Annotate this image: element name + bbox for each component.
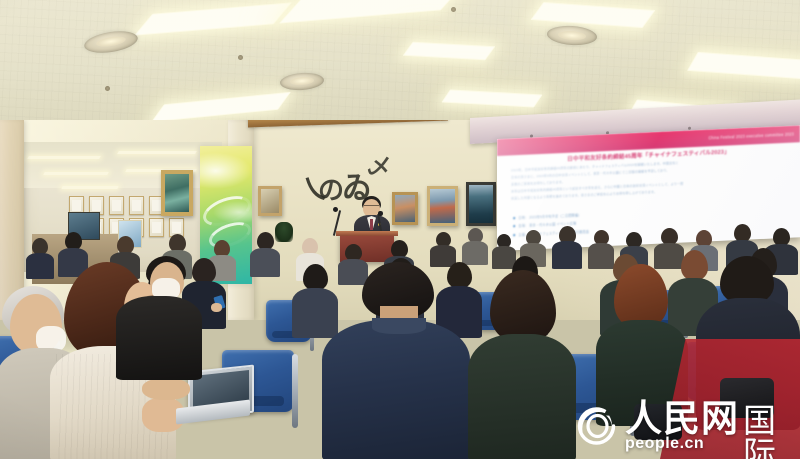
speaker-tie [370,219,373,230]
slide-header-text: China Festival 2023 executive committee … [708,131,800,140]
framed-painting-blue [427,186,458,226]
calligraphy-artwork: 乄 [366,154,392,179]
ceiling-light-panel [27,156,101,159]
attendee-torso [322,320,470,459]
attendee-hair [490,270,556,342]
framed-painting-green-figure [161,170,193,216]
attendee-front-dark-green-top [468,270,576,459]
ceiling-light-panel [117,151,197,154]
conference-photo: ㇏ の ゐ 乄 [0,0,800,459]
chair-frame-rail [292,354,298,428]
attendee-hands-on-keyboard [142,378,190,400]
sprinkler-head [105,86,110,91]
bag-on-floor [634,404,682,440]
bag-on-floor [720,378,774,418]
ceiling-light-panel [43,172,108,175]
attendee-hair [614,264,668,328]
attendee-back-row [552,226,582,268]
polo-collar [372,318,426,334]
bullet-marker-icon [513,217,516,220]
attendee-back-row [430,232,456,266]
framed-painting-mountain [466,182,496,226]
sprinkler-head [238,55,243,60]
sprinkler-head [451,7,456,12]
framed-artwork-small [258,186,282,216]
attendee-torso [250,248,280,277]
podium-microphone [378,211,383,216]
attendee-hand [211,303,222,312]
small-framed-artwork [109,196,124,215]
attendee-front-navy-polo [322,262,470,459]
attendee-torso [468,334,576,459]
attendee-torso [116,296,202,380]
attendee-front-masked-man [116,256,202,376]
framed-painting-sunset [392,192,418,225]
attendee-back-row [462,228,488,264]
bullet-marker-icon [513,225,516,228]
attendee-hair [720,256,774,304]
small-framed-artwork [129,196,144,215]
podium-top-edge [336,231,398,236]
podium-microphone [333,207,338,212]
attendee-torso [552,241,582,269]
ceiling-light-panel [61,186,118,189]
calligraphy-artwork: の [318,178,344,204]
attendee-back-row [250,232,280,276]
speaker-glasses [364,205,379,209]
